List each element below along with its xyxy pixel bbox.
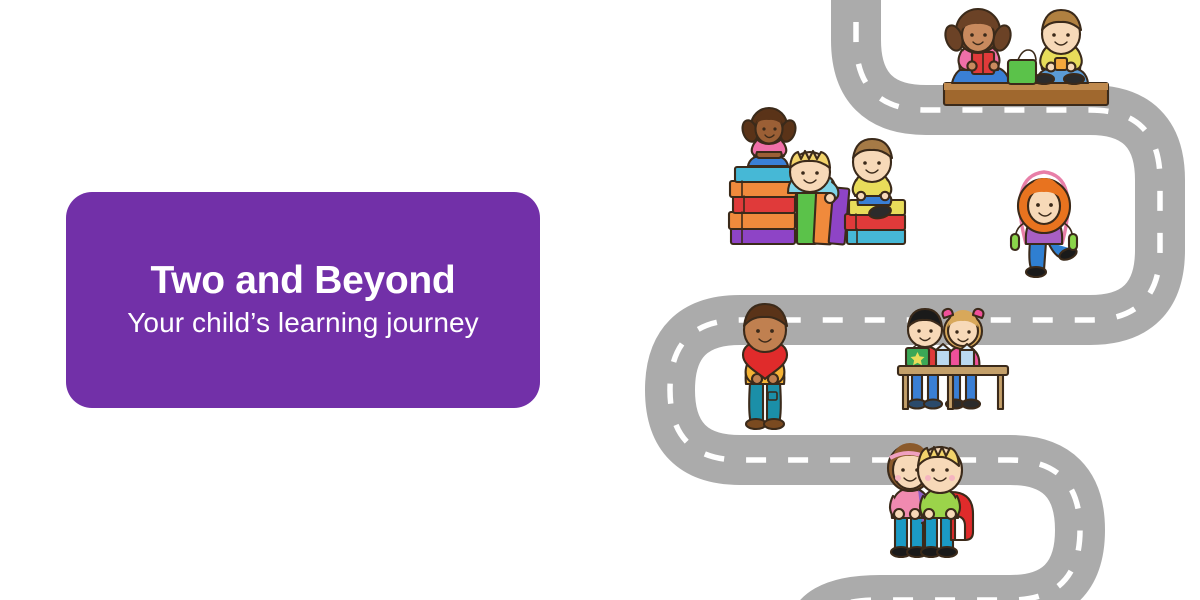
wooden-plank-icon [944,83,1108,105]
green-school-bag-icon [1008,50,1036,84]
slide-canvas: .ol{stroke:#3B2A1A;stroke-width:2.1;stro… [0,0,1200,600]
scene-kids-with-backpacks [888,443,973,557]
scene-bench-readers [942,9,1108,105]
child-boy-sitting [1034,10,1088,84]
page-subtitle: Your child’s learning journey [127,308,479,339]
scene-boy-with-heart [743,304,787,429]
scene-jump-rope-girl [1011,172,1078,277]
book-stack-left [729,167,796,244]
child-girl-on-books [740,108,798,166]
scene-book-stack-kids [729,108,905,245]
hero-card: Two and Beyond Your child’s learning jou… [66,192,540,408]
lunchbox-icon [906,345,929,366]
child-girl-reading [942,9,1013,83]
page-title: Two and Beyond [151,261,456,302]
